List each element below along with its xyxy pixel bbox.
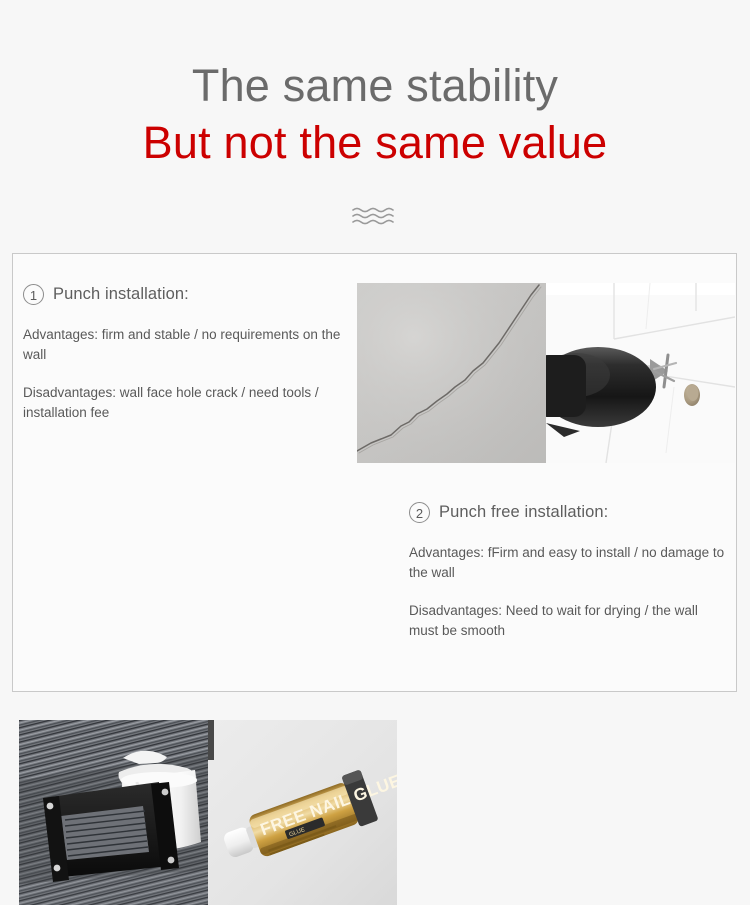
wave-divider-icon [351, 205, 399, 227]
section-row-2: FREE NAIL GLUE GLUE 2 Punch free install… [13, 486, 738, 683]
section-1-heading: 1 Punch installation: [23, 284, 358, 305]
content-card: 1 Punch installation: Advantages: firm a… [12, 253, 737, 692]
section-2-title: Punch free installation: [439, 503, 608, 522]
wall-shelf-photo [19, 720, 208, 905]
section-row-1: 1 Punch installation: Advantages: firm a… [13, 268, 738, 465]
headline-line-1: The same stability [0, 58, 750, 114]
step-number-badge-1: 1 [23, 284, 44, 305]
headline-block: The same stability But not the same valu… [0, 58, 750, 172]
section-1-text: 1 Punch installation: Advantages: firm a… [23, 284, 358, 423]
section-2-advantages: Advantages: fFirm and easy to install / … [409, 543, 729, 583]
headline-line-2: But not the same value [0, 114, 750, 172]
step-number-badge-2: 2 [409, 502, 430, 523]
cracked-wall-photo [357, 283, 546, 463]
section-2-text: 2 Punch free installation: Advantages: f… [409, 502, 729, 641]
drill-wall-photo [546, 283, 735, 463]
section-2-heading: 2 Punch free installation: [409, 502, 729, 523]
section-1-advantages: Advantages: firm and stable / no require… [23, 325, 358, 365]
section-2-disadvantages: Disadvantages: Need to wait for drying /… [409, 601, 729, 641]
section-1-disadvantages: Disadvantages: wall face hole crack / ne… [23, 383, 358, 423]
section-1-title: Punch installation: [53, 285, 189, 304]
glue-tube-photo: FREE NAIL GLUE GLUE [208, 720, 397, 905]
